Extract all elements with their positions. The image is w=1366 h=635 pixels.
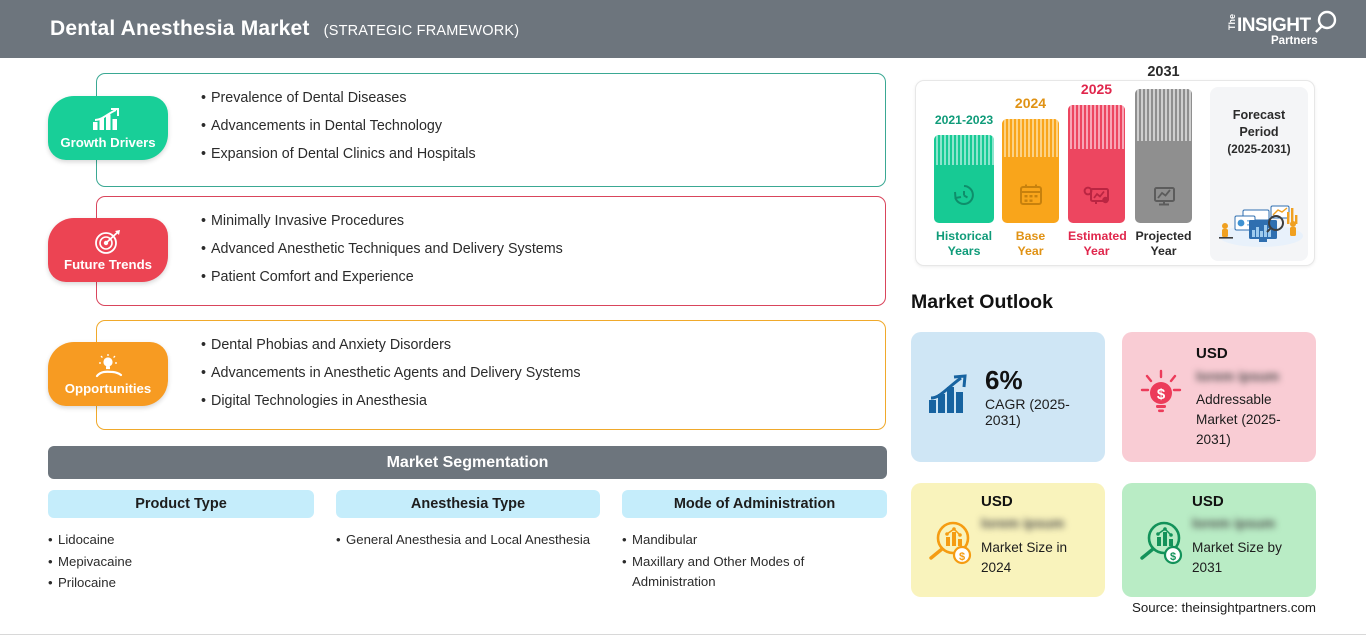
forecast-period-range: (2025-2031) [1227,143,1290,156]
page-subtitle: (STRATEGIC FRAMEWORK) [324,23,520,39]
svg-text:$: $ [959,551,965,563]
section-panel-future-trends: •Minimally Invasive Procedures •Advanced… [96,196,886,306]
currency-label: USD [981,493,1013,510]
segmentation-item-list: •Lidocaine •Mepivacaine •Prilocaine [48,530,314,594]
forecast-timeline-panel: 2021-2023 HistoricalYears [915,80,1315,266]
card-caption: Market Size by 2031 [1192,538,1312,578]
calendar-icon [1018,182,1044,213]
list-item: •Advancements in Anesthetic Agents and D… [201,359,885,387]
blurred-value: lorem ipsum [1192,515,1304,531]
segmentation-column-product-type: Product Type •Lidocaine •Mepivacaine •Pr… [48,490,314,595]
magnifier-chart-dollar-icon: $ [1134,519,1186,574]
list-item: •Advanced Anesthetic Techniques and Deli… [201,235,885,263]
monitor-chart-icon [1150,182,1178,213]
outlook-card-market-size-2024: USD lorem ipsum Market Size in 2024 $ [911,483,1105,597]
bar-chart-arrow-icon [91,107,125,133]
currency-label: USD [1196,345,1228,362]
bar-chart-arrow-icon [927,374,975,421]
bullet-list-future-trends: •Minimally Invasive Procedures •Advanced… [201,197,885,291]
timeline-bar-base: 2024 BaseYear [1002,119,1059,223]
timeline-bar-label: BaseYear [1002,229,1059,259]
card-caption: Addressable Market (2025-2031) [1196,390,1312,450]
blurred-value: lorem ipsum [1196,368,1308,384]
bullet-list-opportunities: •Dental Phobias and Anxiety Disorders •A… [201,321,885,415]
list-item: •Prevalence of Dental Diseases [201,84,885,112]
list-item: •Mandibular [622,530,887,551]
timeline-year-label: 2024 [1002,95,1059,111]
badge-growth-drivers[interactable]: Growth Drivers [48,96,168,160]
currency-label: USD [1192,493,1224,510]
list-item: •Expansion of Dental Clinics and Hospita… [201,140,885,168]
list-item: •Advancements in Dental Technology [201,112,885,140]
timeline-bar-projected: 2031 ProjectedYear [1135,89,1192,223]
svg-text:Partners: Partners [1271,35,1318,47]
blurred-value: lorem ipsum [981,515,1093,531]
badge-label: Opportunities [65,381,151,396]
card-caption: Market Size in 2024 [981,538,1101,578]
badge-label: Growth Drivers [60,135,155,150]
clock-history-icon [951,182,977,213]
outlook-card-addressable-market: USD lorem ipsum Addressable Market (2025… [1122,332,1316,462]
section-panel-growth-drivers: •Prevalence of Dental Diseases •Advancem… [96,73,886,187]
outlook-card-market-size-2031: USD lorem ipsum Market Size by 2031 $ [1122,483,1316,597]
cagr-caption: CAGR (2025-2031) [985,396,1105,428]
forecast-period-box: Forecast Period (2025-2031) [1210,87,1308,261]
timeline-bar-estimated: 2025 EstimatedYear [1068,105,1125,223]
badge-label: Future Trends [64,257,152,272]
svg-text:The: The [1227,14,1237,30]
source-attribution: Source: theinsightpartners.com [1132,600,1316,615]
segmentation-item-list: •Mandibular •Maxillary and Other Modes o… [622,530,887,593]
badge-opportunities[interactable]: Opportunities [48,342,168,406]
page-title-text: Dental Anesthesia Market [50,17,310,40]
list-item: •Minimally Invasive Procedures [201,207,885,235]
monitor-gear-icon [1083,182,1111,213]
svg-text:$: $ [1170,551,1176,563]
svg-text:INSIGHT: INSIGHT [1237,15,1311,36]
list-item: •Mepivacaine [48,552,314,573]
lightbulb-dollar-icon: $ [1136,368,1186,423]
timeline-year-label: 2021-2023 [934,113,994,127]
bullet-list-growth-drivers: •Prevalence of Dental Diseases •Advancem… [201,74,885,168]
timeline-year-label: 2025 [1068,81,1125,97]
segmentation-column-header: Mode of Administration [622,490,887,518]
lightbulb-hand-icon [92,353,124,379]
timeline-bar-historical: 2021-2023 HistoricalYears [934,135,994,223]
badge-future-trends[interactable]: Future Trends [48,218,168,282]
magnifier-chart-dollar-icon: $ [923,519,975,574]
forecast-period-title: Forecast Period (2025-2031) [1210,87,1308,158]
segmentation-column-anesthesia-type: Anesthesia Type •General Anesthesia and … [336,490,600,552]
outlook-card-cagr: 6% CAGR (2025-2031) [911,332,1105,462]
segmentation-column-header: Product Type [48,490,314,518]
section-panel-opportunities: •Dental Phobias and Anxiety Disorders •A… [96,320,886,430]
list-item: •Prilocaine [48,573,314,594]
page-header: Dental Anesthesia Market (STRATEGIC FRAM… [0,0,1366,58]
segmentation-column-mode-of-administration: Mode of Administration •Mandibular •Maxi… [622,490,887,594]
timeline-bar-label: EstimatedYear [1068,229,1125,259]
list-item: •Digital Technologies in Anesthesia [201,387,885,415]
timeline-bar-label: HistoricalYears [934,229,994,259]
timeline-year-label: 2031 [1135,64,1192,80]
analytics-illustration [1213,190,1305,253]
market-outlook-title: Market Outlook [911,291,1053,314]
segmentation-column-header: Anesthesia Type [336,490,600,518]
cagr-value: 6% [985,366,1105,394]
target-dart-icon [93,229,123,255]
market-segmentation-header: Market Segmentation [48,446,887,479]
list-item: •Patient Comfort and Experience [201,263,885,291]
list-item: •Lidocaine [48,530,314,551]
list-item: •Dental Phobias and Anxiety Disorders [201,331,885,359]
infographic-page: Dental Anesthesia Market (STRATEGIC FRAM… [0,0,1366,635]
list-item: •Maxillary and Other Modes of Administra… [622,552,887,593]
svg-text:$: $ [1157,386,1166,403]
segmentation-item-list: •General Anesthesia and Local Anesthesia [336,530,600,551]
list-item: •General Anesthesia and Local Anesthesia [336,530,600,551]
timeline-bar-label: ProjectedYear [1135,229,1192,259]
insight-partners-logo: The INSIGHT Partners [1221,9,1346,49]
page-title: Dental Anesthesia Market (STRATEGIC FRAM… [50,17,519,41]
